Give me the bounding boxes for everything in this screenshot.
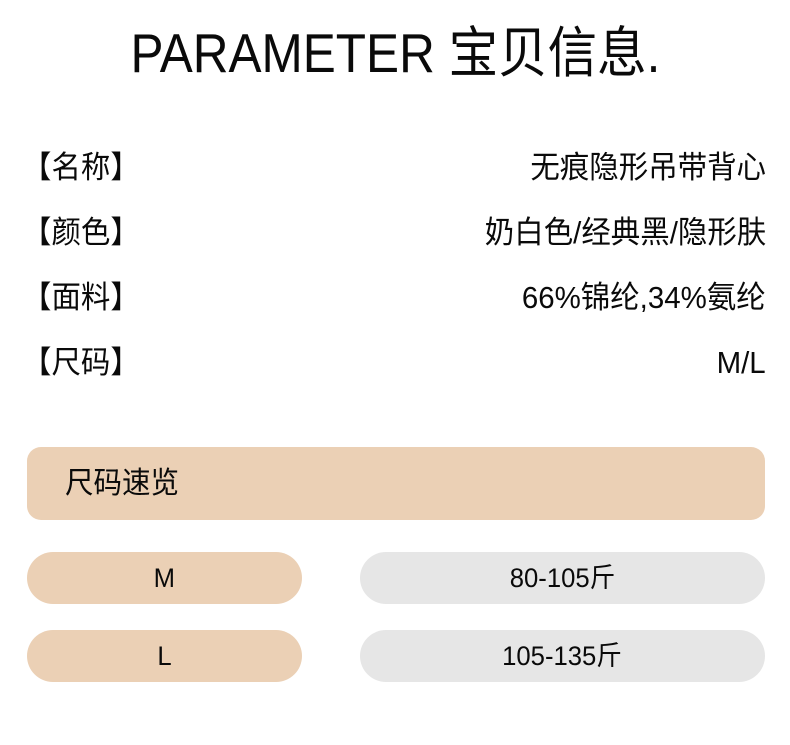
parameter-value-color: 奶白色/经典黑/隐形肤 <box>485 215 766 251</box>
page-title-text: PARAMETER 宝贝信息. <box>130 22 660 84</box>
parameter-row-fabric: 【面料】 66%锦纶,34%氨纶 <box>22 280 766 345</box>
parameter-row-name: 【名称】 无痕隐形吊带背心 <box>22 150 766 215</box>
parameter-label-size: 【尺码】 <box>22 345 140 381</box>
parameter-list: 【名称】 无痕隐形吊带背心 【颜色】 奶白色/经典黑/隐形肤 【面料】 66%锦… <box>22 150 766 410</box>
parameter-label-color: 【颜色】 <box>22 215 140 251</box>
weight-pill-label-l: 105-135斤 <box>503 641 623 671</box>
weight-pill-label-m: 80-105斤 <box>510 563 616 593</box>
size-pill-label-m: M <box>154 563 175 593</box>
page-title: PARAMETER 宝贝信息. <box>0 22 790 84</box>
size-chart: 尺码速览 M 80-105斤 L 105-135斤 <box>27 447 765 682</box>
product-parameter-page: PARAMETER 宝贝信息. 【名称】 无痕隐形吊带背心 【颜色】 奶白色/经… <box>0 0 790 745</box>
size-pill-label-l: L <box>157 641 171 671</box>
parameter-row-size: 【尺码】 M/L <box>22 345 766 410</box>
parameter-label-name: 【名称】 <box>22 150 140 186</box>
size-chart-rows: M 80-105斤 L 105-135斤 <box>27 552 765 682</box>
size-chart-row-l: L 105-135斤 <box>27 630 765 682</box>
parameter-value-name: 无痕隐形吊带背心 <box>530 150 766 186</box>
size-chart-header: 尺码速览 <box>27 447 765 520</box>
size-chart-header-label: 尺码速览 <box>65 467 179 501</box>
parameter-value-fabric: 66%锦纶,34%氨纶 <box>522 280 766 316</box>
parameter-row-color: 【颜色】 奶白色/经典黑/隐形肤 <box>22 215 766 280</box>
parameter-label-fabric: 【面料】 <box>22 280 140 316</box>
parameter-value-size: M/L <box>717 345 766 381</box>
weight-pill-l: 105-135斤 <box>360 630 765 682</box>
size-chart-row-m: M 80-105斤 <box>27 552 765 604</box>
size-pill-l: L <box>27 630 302 682</box>
weight-pill-m: 80-105斤 <box>360 552 765 604</box>
size-pill-m: M <box>27 552 302 604</box>
